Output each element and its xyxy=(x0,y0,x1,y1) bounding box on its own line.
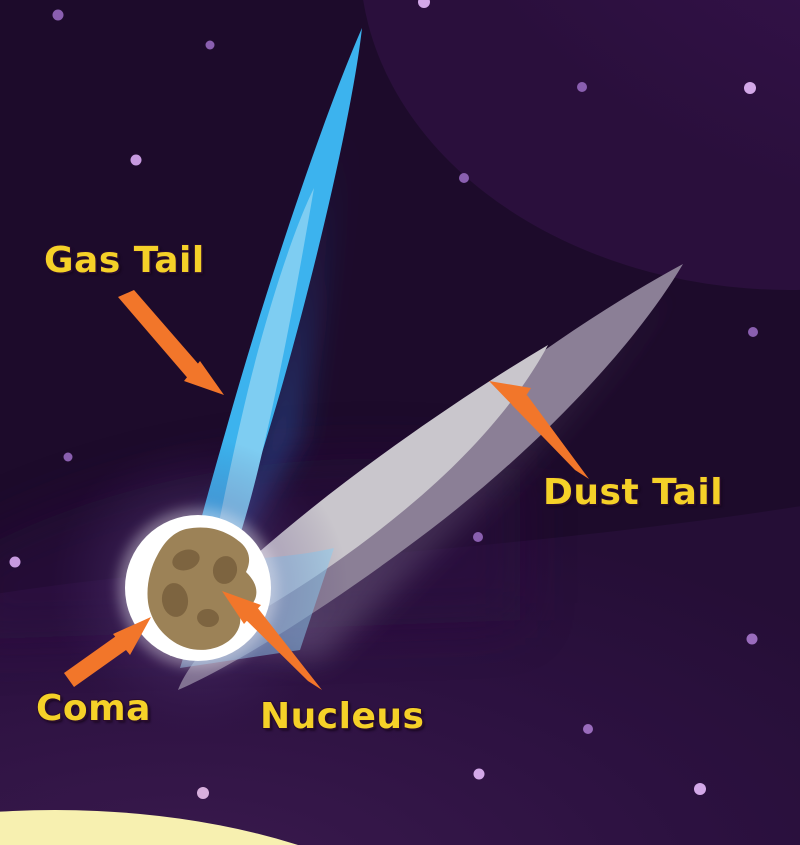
arrow-coma xyxy=(64,617,151,687)
label-gas-tail: Gas Tail xyxy=(44,240,205,281)
arrow-dust-tail xyxy=(489,381,589,479)
arrow-gas-tail xyxy=(118,290,224,395)
comet-diagram: Gas Tail Dust Tail Coma Nucleus xyxy=(0,0,800,845)
label-coma: Coma xyxy=(36,688,151,729)
label-dust-tail: Dust Tail xyxy=(543,472,723,513)
label-nucleus: Nucleus xyxy=(260,696,424,737)
arrow-nucleus xyxy=(222,591,322,690)
